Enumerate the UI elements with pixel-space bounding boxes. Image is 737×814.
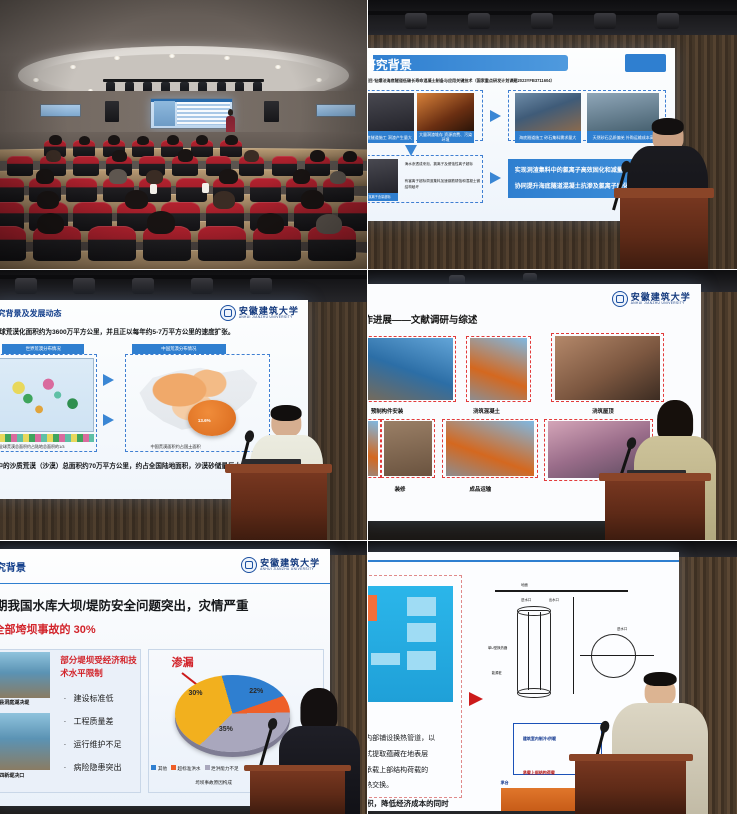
presenter-hair — [271, 405, 302, 421]
podium — [231, 464, 326, 540]
bullet-dot: · — [64, 763, 67, 772]
map-legend-world — [0, 434, 94, 442]
slide-image-column — [154, 101, 175, 126]
university-name-en: ANHUI JIANZHU UNIVERSITY — [631, 302, 691, 305]
diagram-label: 地面 — [521, 582, 528, 587]
audience-head — [167, 135, 179, 146]
photo-caption: 华容县洞庭湖决堤 — [0, 699, 29, 706]
chart-legend: 其他 超标准洪水 泄洪能力不足 — [151, 765, 238, 772]
seat — [66, 178, 97, 202]
seat — [7, 156, 33, 176]
university-seal-icon — [241, 557, 257, 573]
photo-label: 大量洞渣堆存 资源浪费、污染环境 — [417, 131, 474, 143]
stage-light-icon — [468, 13, 490, 29]
stage-light-icon — [132, 278, 154, 294]
pile-cylinder — [517, 610, 550, 694]
hvac-unit — [407, 623, 436, 642]
lighting-truss — [0, 275, 367, 279]
university-logo: 安徽建筑大学 ANHUI JIANZHU UNIVERSITY — [220, 305, 299, 321]
photo-dam-breach-2 — [0, 713, 50, 769]
audience-head — [36, 169, 54, 184]
callout-title: 部分堤坝受经济和技术水平限制 — [60, 654, 141, 680]
desert-area-blob — [188, 400, 235, 436]
photo-caption: 浇筑混凝土 — [473, 407, 500, 415]
pie-label-22: 22% — [249, 688, 263, 695]
indoor-label: 建筑室内制冷/供暖 — [523, 736, 556, 742]
body-line: 进行热交换。 — [368, 780, 393, 790]
slide-bullet: 有害离子超标洞渣集料加速钢筋锈蚀和混凝土微结构破坏 — [405, 179, 480, 190]
photo-dam-breach-1 — [0, 652, 50, 698]
seat — [198, 226, 246, 261]
bullet-item: · 运行维护不足 — [64, 739, 122, 750]
legend-item: 泄洪能力不足 — [205, 765, 239, 772]
bullet-text: 病险隐患突出 — [73, 763, 121, 772]
slide-subtitle: 总项目·钻爆法海底隧道低碳长寿命混凝土制备与应用关键技术（国家重点研发计划课题2… — [368, 78, 555, 84]
audience-head — [244, 150, 259, 162]
photo-caption: 清水四新堤决口 — [0, 772, 24, 779]
audience-head — [108, 135, 120, 146]
audience-head — [146, 170, 163, 184]
axis-line — [580, 655, 654, 656]
slide-title: 研究背景 — [368, 56, 412, 73]
stage-light-icon — [191, 278, 213, 294]
downlight-icon — [169, 54, 175, 58]
photo-interior-finish — [384, 421, 432, 476]
audience-head — [79, 136, 91, 146]
audience-head — [330, 171, 347, 184]
hvac-system-illustration — [368, 586, 453, 703]
photo-roof-pour — [555, 336, 661, 400]
photo-caption: 成品运输 — [470, 485, 492, 493]
house-icon — [368, 595, 377, 621]
audience-head — [137, 136, 149, 146]
stage-light-icon — [405, 13, 427, 29]
university-name-en: ANHUI JIANZHU UNIVERSITY — [239, 316, 299, 319]
body-line: 主体内部铺设换热管道，以 — [368, 733, 435, 743]
legend-item: 超标准洪水 — [171, 765, 200, 772]
photo-concrete-pour — [470, 338, 528, 400]
legend-item: 其他 — [151, 765, 167, 772]
slide-body-line-2: 荒漠中的沙质荒漠（沙漠）总面积约70万平方公里，约占全国陆地面积，沙漠砂储量巨大… — [0, 460, 248, 470]
load-label: 承载上部结构荷载 — [523, 770, 555, 776]
photo-label: 海底隧道施工 洞渣产生量大 — [368, 131, 414, 143]
body-line: ，在承载上部结构荷载的 — [368, 765, 428, 775]
arrow-icon — [103, 414, 114, 426]
seat — [88, 226, 136, 261]
photo-extra — [368, 421, 378, 476]
cap-label: 承台 — [501, 780, 509, 786]
caption-china: 中国荒漠面积约占国土面积 — [150, 444, 200, 450]
university-logo: 安徽建筑大学 ANHUI JIANZHU UNIVERSITY — [241, 557, 320, 573]
title-underline — [0, 583, 330, 584]
photo-precast-install — [368, 338, 453, 400]
stage-light-icon — [15, 278, 37, 294]
audience-head — [257, 213, 284, 235]
photo-tunnel-workers — [515, 93, 581, 131]
pile-top-ellipse — [517, 606, 550, 615]
podium — [575, 754, 686, 814]
audience-head — [178, 149, 193, 162]
arrow-icon — [490, 172, 501, 184]
diagram-label: 进水口 — [521, 597, 531, 602]
slide-subhead: 占全部垮坝事故的 30% — [0, 621, 96, 637]
header-accent — [368, 560, 679, 562]
photo-label: 海底隧道施工 砂石集料需求量大 — [515, 131, 581, 143]
downlight-icon — [316, 78, 322, 82]
diagram-label: 能源桩 — [492, 670, 502, 675]
audience-head — [343, 151, 357, 162]
dimension-line — [573, 597, 574, 694]
stage-light-icon — [523, 273, 537, 282]
seat — [0, 178, 24, 202]
downlight-icon — [275, 65, 281, 69]
slide-share-icon — [625, 54, 666, 71]
slide-bullet: 海水渗透成来泡，氯离子及侵蚀性离子超标 — [405, 162, 480, 167]
downlight-icon — [70, 65, 76, 69]
slide-title: 研究背景及发展动态 — [0, 308, 62, 319]
bullet-text: 运行维护不足 — [73, 740, 121, 749]
slide-title: 研究背景 — [0, 559, 26, 574]
photo-tunnel-muck — [368, 93, 414, 131]
panel-dam-safety: 研究背景 安徽建筑大学 ANHUI JIANZHU UNIVERSITY 汛期我… — [0, 541, 367, 814]
downlight-icon — [33, 78, 39, 82]
seat — [73, 156, 99, 176]
photo-chloride-sample — [368, 159, 398, 193]
arrow-icon — [103, 374, 114, 386]
audience-head — [147, 211, 175, 234]
arrow-icon — [469, 692, 483, 706]
u-tube — [540, 612, 541, 690]
map-label-china: 中国荒漠分布情况 — [132, 344, 227, 354]
photo-muck-pile — [417, 93, 474, 131]
audience-head — [196, 135, 208, 146]
bullet-item: · 工程质量差 — [64, 716, 114, 727]
chart-caption: 垮坝事故原因构成 — [195, 780, 232, 786]
stage-light-icon — [594, 13, 616, 29]
audience-head — [125, 190, 148, 209]
stage-light-icon — [250, 278, 272, 294]
university-logo: 安徽建筑大学 ANHUI JIANZHU UNIVERSITY — [612, 291, 691, 307]
panel-desertification: 研究背景及发展动态 安徽建筑大学 ANHUI JIANZHU UNIVERSIT… — [0, 270, 367, 540]
side-display-right — [316, 104, 356, 117]
presenter-hair — [644, 672, 677, 686]
presenter-hair — [651, 118, 684, 135]
hvac-unit — [407, 597, 436, 616]
podium — [250, 765, 345, 814]
panel-auditorium — [0, 0, 367, 269]
stage-light-icon — [531, 13, 553, 29]
caption-world: 全球荒漠总面积约占陆地总面积的1/3 — [0, 444, 65, 450]
diagram-label: 进水口 — [617, 626, 627, 631]
photo-collage: 研究背景 总项目·钻爆法海底隧道低碳长寿命混凝土制备与应用关键技术（国家重点研发… — [0, 0, 737, 812]
seat — [0, 226, 26, 261]
audience-head — [109, 169, 127, 184]
bullet-dot: · — [64, 740, 67, 749]
diagram-label: 单U型换热器 — [488, 645, 507, 650]
audience-head — [310, 150, 325, 162]
panel-literature-review: 安徽建筑大学 ANHUI JIANZHU UNIVERSITY 工作进展——文献… — [368, 270, 737, 540]
conclusion-line: 实现洞渣集料中的氯离子高效固化和减量 — [515, 165, 623, 174]
speaker-right — [264, 101, 279, 123]
photo-module-transport — [446, 421, 535, 476]
bullet-item: · 病险隐患突出 — [64, 762, 122, 773]
slide-body-line-1: 全球荒漠化面积约为3600万平方公里，并且正以每年约5-7万平方公里的速度扩张。 — [0, 326, 234, 336]
bullet-item: · 建设标准低 — [64, 693, 114, 704]
cup — [150, 184, 157, 194]
chart-annotation: 渗漏 — [172, 654, 194, 670]
audience-head — [301, 190, 324, 208]
audience-head — [112, 150, 127, 162]
university-seal-icon — [612, 291, 628, 307]
u-tube — [528, 612, 529, 690]
audience-head — [37, 191, 59, 209]
pie-chart — [175, 675, 290, 752]
slide-footer: 占面积，降低经济成本的同时 — [368, 798, 449, 809]
bullet-dot: · — [64, 694, 67, 703]
main-projection-screen — [150, 98, 233, 129]
audience-head — [219, 169, 237, 184]
university-name-en: ANHUI JIANZHU UNIVERSITY — [260, 568, 320, 571]
cup — [202, 183, 209, 193]
seat — [250, 178, 281, 202]
hvac-unit — [407, 651, 436, 670]
stage-light-icon — [657, 13, 679, 29]
arrow-icon — [490, 110, 501, 122]
audience-head — [293, 169, 311, 184]
bullet-text: 工程质量差 — [73, 717, 113, 726]
audience-head — [225, 135, 237, 146]
ground-line — [495, 590, 628, 592]
podium — [620, 188, 709, 269]
body-line: 的方式提取蕴藏在地表层 — [368, 749, 428, 759]
photo-caption: 预制构件安装 — [371, 407, 403, 415]
university-seal-icon — [220, 305, 236, 321]
slide-headline: 汛期我国水库大坝/堤防安全问题突出，灾情严重 — [0, 595, 249, 614]
podium — [605, 473, 705, 541]
audience-head — [49, 135, 61, 146]
audience-head — [316, 214, 342, 234]
bullet-dot: · — [64, 717, 67, 726]
bullet-text: 建设标准低 — [73, 694, 113, 703]
slide-table-grid — [177, 102, 229, 125]
audience-head — [37, 213, 64, 235]
diagram-label: 出水口 — [549, 597, 559, 602]
panel-energy-pile: 主体内部铺设换热管道，以 的方式提取蕴藏在地表层 ，在承载上部结构荷载的 进行热… — [368, 541, 737, 814]
panel-tunnel-concrete: 研究背景 总项目·钻爆法海底隧道低碳长寿命混凝土制备与应用关键技术（国家重点研发… — [368, 0, 737, 269]
slide-title: 工作进展——文献调研与综述 — [368, 312, 477, 326]
audience-head — [213, 191, 235, 209]
map-label-world: 世界荒漠分布情况 — [2, 344, 84, 354]
pile-bottom-ellipse — [517, 688, 550, 697]
photo-label: 氯离子含量超标 — [368, 193, 398, 201]
photo-caption: 装修 — [395, 485, 406, 493]
pie-label-35: 35% — [219, 726, 233, 733]
hvac-coil — [371, 653, 400, 665]
world-desert-map — [0, 358, 94, 432]
audience-head — [46, 150, 61, 162]
roof-icon — [513, 710, 597, 726]
stage-light-icon — [73, 278, 95, 294]
speaker-left — [105, 101, 120, 123]
photo-caption: 浇筑屋顶 — [592, 407, 614, 415]
side-display-left — [40, 104, 80, 117]
presenter-hair — [301, 688, 338, 731]
blob-value: 13.6% — [198, 418, 211, 423]
pie-label-30: 30% — [188, 690, 202, 697]
